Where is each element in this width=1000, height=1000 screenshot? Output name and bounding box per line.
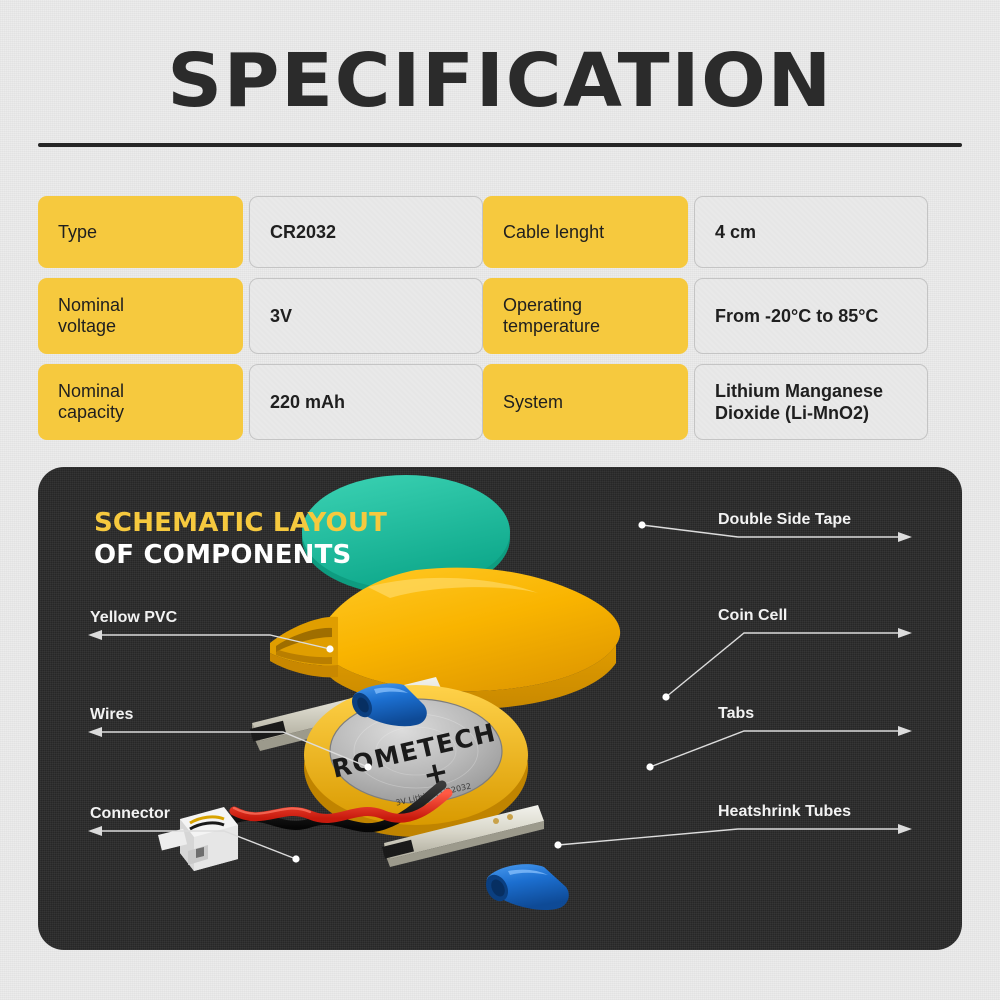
spec-key-label-line2: voltage bbox=[58, 316, 116, 336]
spec-value-system: Lithium Manganese Dioxide (Li-MnO2) bbox=[694, 364, 928, 440]
callout-label-connector: Connector bbox=[90, 805, 170, 823]
spec-column-right: Cable lenght 4 cm Operating temperature … bbox=[483, 196, 928, 450]
callout-label-tabs: Tabs bbox=[718, 705, 754, 723]
spec-value-cable-lenght: 4 cm bbox=[694, 196, 928, 268]
spec-key-label: Type bbox=[58, 222, 97, 243]
spec-row: Nominal capacity 220 mAh bbox=[38, 364, 483, 440]
spec-value-label-line2: Dioxide (Li-MnO2) bbox=[715, 403, 869, 423]
spec-row: Operating temperature From -20°C to 85°C bbox=[483, 278, 928, 354]
spec-key-label: Cable lenght bbox=[503, 222, 604, 243]
spec-row: Type CR2032 bbox=[38, 196, 483, 268]
spec-column-left: Type CR2032 Nominal voltage 3V bbox=[38, 196, 483, 450]
spec-key-system: System bbox=[483, 364, 688, 440]
spec-key-cable-lenght: Cable lenght bbox=[483, 196, 688, 268]
spec-value-nominal-voltage: 3V bbox=[249, 278, 483, 354]
spec-key-label-line1: Operating bbox=[503, 295, 582, 315]
page-title: SPECIFICATION bbox=[0, 44, 1000, 118]
spec-row: Nominal voltage 3V bbox=[38, 278, 483, 354]
callout-label-yellow-pvc: Yellow PVC bbox=[90, 609, 177, 627]
spec-value-label-line1: Lithium Manganese bbox=[715, 381, 883, 401]
spec-row: System Lithium Manganese Dioxide (Li-MnO… bbox=[483, 364, 928, 440]
schematic-panel: ROMETECH + 3V Lithium CR2032 bbox=[38, 467, 962, 950]
title-divider bbox=[38, 143, 962, 147]
callout-label-wires: Wires bbox=[90, 706, 133, 724]
spec-key-nominal-voltage: Nominal voltage bbox=[38, 278, 243, 354]
spec-value-type: CR2032 bbox=[249, 196, 483, 268]
schematic-heading-line1: SCHEMATIC LAYOUT bbox=[94, 507, 387, 539]
spec-key-label: System bbox=[503, 392, 563, 413]
spec-key-label-line2: temperature bbox=[503, 316, 600, 336]
schematic-heading-line2: OF COMPONENTS bbox=[94, 539, 387, 571]
spec-value-label: 220 mAh bbox=[270, 391, 345, 413]
spec-key-label-line2: capacity bbox=[58, 402, 124, 422]
spec-value-operating-temperature: From -20°C to 85°C bbox=[694, 278, 928, 354]
spec-value-label: 4 cm bbox=[715, 221, 756, 243]
schematic-heading: SCHEMATIC LAYOUT OF COMPONENTS bbox=[94, 507, 387, 571]
spec-value-nominal-capacity: 220 mAh bbox=[249, 364, 483, 440]
spec-key-operating-temperature: Operating temperature bbox=[483, 278, 688, 354]
callout-label-coin-cell: Coin Cell bbox=[718, 607, 787, 625]
callout-label-double-side-tape: Double Side Tape bbox=[718, 511, 851, 529]
spec-row: Cable lenght 4 cm bbox=[483, 196, 928, 268]
spec-key-nominal-capacity: Nominal capacity bbox=[38, 364, 243, 440]
specification-infographic: SPECIFICATION Type CR2032 Nominal voltag… bbox=[0, 0, 1000, 1000]
callout-label-heatshrink-tubes: Heatshrink Tubes bbox=[718, 803, 851, 821]
spec-key-type: Type bbox=[38, 196, 243, 268]
spec-value-label: CR2032 bbox=[270, 221, 336, 243]
spec-key-label-line1: Nominal bbox=[58, 295, 124, 315]
spec-key-label-line1: Nominal bbox=[58, 381, 124, 401]
spec-value-label: From -20°C to 85°C bbox=[715, 305, 878, 327]
spec-value-label: 3V bbox=[270, 305, 292, 327]
